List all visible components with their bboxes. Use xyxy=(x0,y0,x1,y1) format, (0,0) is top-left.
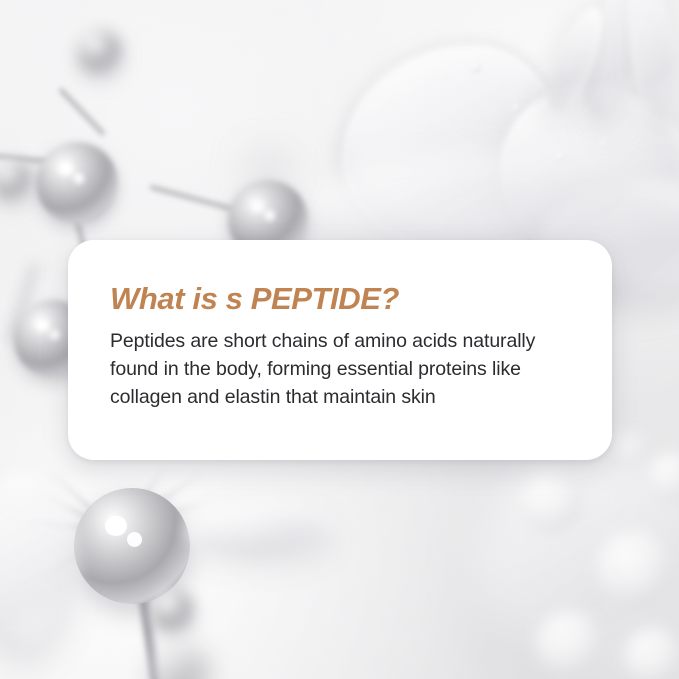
molecule-rod-e xyxy=(9,264,38,342)
molecule-spoke-2 xyxy=(33,490,117,533)
molecule-sphere-left-edge xyxy=(0,160,32,200)
gel-wisp-left-edge xyxy=(0,470,80,660)
gel-blob-top-center-rim xyxy=(344,46,570,252)
gel-haze-lower-right xyxy=(470,450,679,679)
gel-blob-top-center xyxy=(340,42,570,252)
bokeh-ball-right-top-small xyxy=(612,432,646,466)
info-card: What is s PEPTIDE? Peptides are short ch… xyxy=(68,240,612,460)
card-heading: What is s PEPTIDE? xyxy=(110,282,572,316)
gel-ribbon-top-right-c xyxy=(536,1,613,119)
gel-wisp-lower-left xyxy=(186,500,336,558)
gel-droplet-a xyxy=(470,62,481,73)
molecule-rod-a xyxy=(58,87,106,137)
molecule-stem-lower xyxy=(134,565,163,679)
molecule-spoke-3 xyxy=(50,472,117,533)
molecule-sphere-lower-left-main xyxy=(74,488,190,604)
molecule-spoke-6 xyxy=(115,472,203,533)
molecule-sphere-stem-a xyxy=(152,590,194,632)
gel-droplet-d xyxy=(600,140,607,147)
molecule-sphere-stem-b xyxy=(154,648,206,679)
molecule-spoke-4 xyxy=(42,530,117,578)
molecule-rod-c xyxy=(149,184,276,222)
gel-droplet-c xyxy=(556,152,565,161)
gel-ribbon-top-right-b xyxy=(618,0,679,129)
molecule-sphere-top-left-small xyxy=(78,30,122,74)
gel-droplet-b xyxy=(512,104,520,112)
gel-ribbon-top-right-a xyxy=(571,0,660,128)
molecule-sphere-upper-left-main xyxy=(36,142,118,224)
bokeh-ball-right-upper xyxy=(520,470,582,532)
molecule-spoke-5 xyxy=(116,500,208,533)
infographic-canvas: What is s PEPTIDE? Peptides are short ch… xyxy=(0,0,679,679)
bokeh-ball-right-mid xyxy=(596,530,672,606)
card-body-text: Peptides are short chains of amino acids… xyxy=(110,328,572,412)
bokeh-ball-far-right xyxy=(648,452,679,500)
molecule-rod-b xyxy=(0,152,112,170)
molecule-spoke-1 xyxy=(20,520,116,533)
molecule-sphere-center-bokeh xyxy=(250,150,284,184)
bokeh-ball-bottom-right xyxy=(624,628,679,679)
gel-blob-upper-right xyxy=(500,86,679,254)
molecule-spoke-7 xyxy=(115,466,168,532)
bokeh-ball-bottom-mid xyxy=(536,610,602,676)
